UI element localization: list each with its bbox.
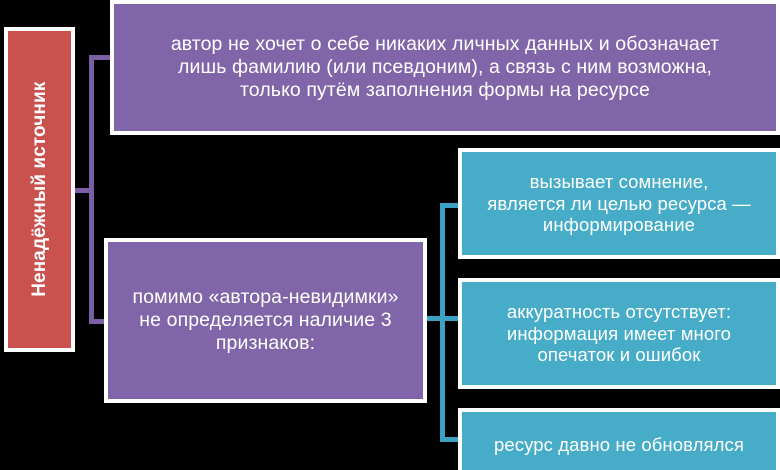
branch-node-anonymity-label: автор не хочет о себе никаких личных дан…	[114, 33, 776, 102]
leaf-node-accuracy-label: аккуратность отсутствует: информация име…	[462, 301, 776, 366]
connector-teal-spine	[440, 203, 445, 442]
root-node-label: Ненадёжный источник	[28, 29, 50, 349]
branch-node-signs-label: помимо «автора-невидимки» не определяетс…	[108, 286, 423, 355]
leaf-node-doubt-label: вызывает сомнение, является ли целью рес…	[462, 171, 776, 236]
branch-node-anonymity: автор не хочет о себе никаких личных дан…	[110, 0, 780, 135]
leaf-node-accuracy: аккуратность отсутствует: информация име…	[458, 278, 780, 389]
leaf-node-outdated-label: ресурс давно не обновлялся	[462, 412, 776, 456]
diagram-canvas: Ненадёжный источник автор не хочет о себ…	[0, 0, 780, 470]
branch-node-signs: помимо «автора-невидимки» не определяетс…	[104, 238, 427, 403]
leaf-node-doubt: вызывает сомнение, является ли целью рес…	[458, 148, 780, 259]
root-node-unreliable-source: Ненадёжный источник	[4, 27, 75, 352]
connector-purple-from-root	[75, 188, 94, 193]
leaf-node-outdated: ресурс давно не обновлялся	[458, 408, 780, 470]
